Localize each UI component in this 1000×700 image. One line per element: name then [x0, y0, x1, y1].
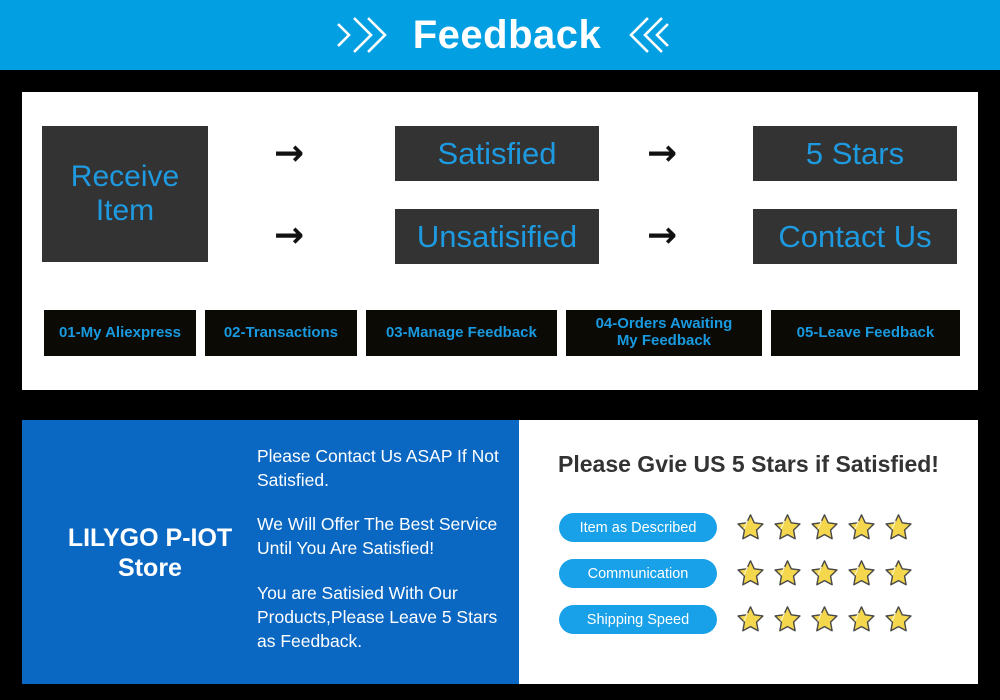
star-icon[interactable] [772, 558, 803, 589]
rating-row-shipping-speed: Shipping Speed [559, 604, 914, 635]
page-header: Feedback [0, 0, 1000, 70]
flow-arrow-to-five-stars: → [647, 136, 677, 172]
store-note-2: We Will Offer The Best Service Until You… [257, 512, 512, 560]
flow-box-five-stars: 5 Stars [753, 126, 957, 181]
rating-label-shipping-speed[interactable]: Shipping Speed [559, 605, 717, 634]
star-icon[interactable] [735, 558, 766, 589]
rating-label-communication[interactable]: Communication [559, 559, 717, 588]
step-button-05[interactable]: 05-Leave Feedback [771, 310, 960, 356]
rating-label-item-as-described[interactable]: Item as Described [559, 513, 717, 542]
star-icon[interactable] [846, 604, 877, 635]
rating-panel: Please Gvie US 5 Stars if Satisfied! Ite… [519, 420, 978, 684]
store-note-1: Please Contact Us ASAP If Not Satisfied. [257, 444, 512, 492]
rating-title: Please Gvie US 5 Stars if Satisfied! [519, 451, 978, 478]
chevrons-right-icon [331, 13, 387, 57]
rating-stars-shipping-speed[interactable] [735, 604, 914, 635]
star-icon[interactable] [883, 604, 914, 635]
flow-arrow-to-contact-us: → [647, 218, 677, 254]
flow-box-satisfied: Satisfied [395, 126, 599, 181]
step-button-03[interactable]: 03-Manage Feedback [366, 310, 557, 356]
rating-row-communication: Communication [559, 558, 914, 589]
step-button-01[interactable]: 01-My Aliexpress [44, 310, 196, 356]
step-button-02[interactable]: 02-Transactions [205, 310, 357, 356]
store-note-3: You are Satisied With Our Products,Pleas… [257, 581, 512, 653]
flow-arrow-to-unsatisfied: → [274, 218, 304, 254]
star-icon[interactable] [846, 512, 877, 543]
star-icon[interactable] [883, 558, 914, 589]
star-icon[interactable] [735, 512, 766, 543]
rating-stars-item-as-described[interactable] [735, 512, 914, 543]
flow-box-unsatisfied: Unsatisified [395, 209, 599, 264]
bottom-section: LILYGO P-IOT Store Please Contact Us ASA… [22, 420, 978, 684]
star-icon[interactable] [735, 604, 766, 635]
chevrons-left-icon [627, 13, 669, 57]
rating-stars-communication[interactable] [735, 558, 914, 589]
star-icon[interactable] [809, 558, 840, 589]
store-notes: Please Contact Us ASAP If Not Satisfied.… [257, 444, 512, 653]
star-icon[interactable] [809, 512, 840, 543]
star-icon[interactable] [772, 604, 803, 635]
rating-rows: Item as Described Communication [559, 512, 914, 635]
star-icon[interactable] [772, 512, 803, 543]
star-icon[interactable] [883, 512, 914, 543]
star-icon[interactable] [809, 604, 840, 635]
page-title: Feedback [413, 15, 602, 55]
flow-arrow-to-satisfied: → [274, 136, 304, 172]
step-button-04[interactable]: 04-Orders Awaiting My Feedback [566, 310, 762, 356]
feedback-flow-card: Receive Item → → Satisfied Unsatisified … [22, 92, 978, 390]
flow-box-contact-us: Contact Us [753, 209, 957, 264]
store-name: LILYGO P-IOT Store [40, 524, 260, 583]
feedback-steps: 01-My Aliexpress 02-Transactions 03-Mana… [44, 310, 960, 356]
star-icon[interactable] [846, 558, 877, 589]
rating-row-item-as-described: Item as Described [559, 512, 914, 543]
store-info-panel: LILYGO P-IOT Store Please Contact Us ASA… [22, 420, 519, 684]
flow-box-receive-item: Receive Item [42, 126, 208, 262]
